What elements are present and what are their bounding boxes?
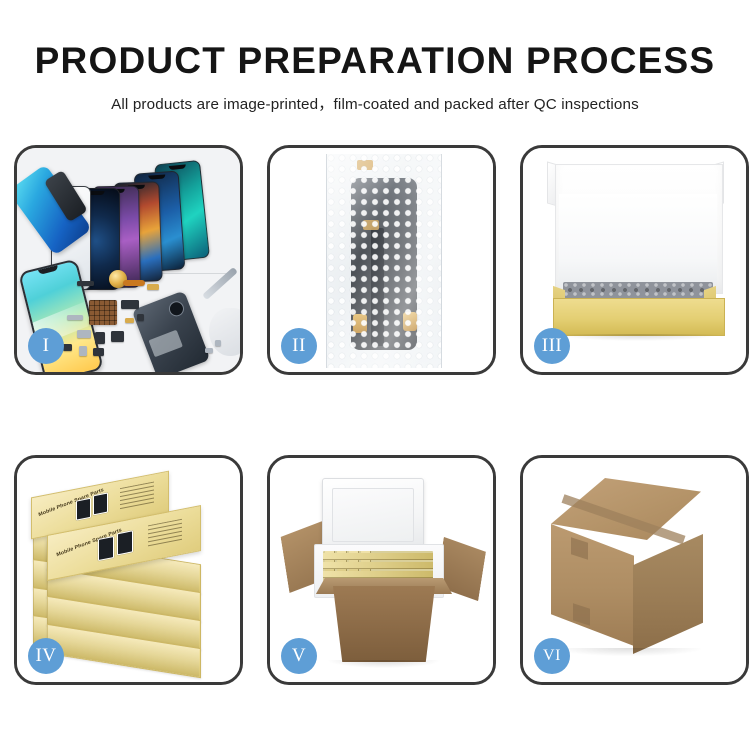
foam-lid-icon — [322, 478, 424, 552]
copper-board-icon — [89, 300, 117, 325]
step-badge-1: I — [28, 328, 64, 364]
process-step-panel-4: Mobile Phone Spare Parts Mobile Phone Sp… — [14, 455, 243, 685]
step-badge-2: II — [281, 328, 317, 364]
process-step-panel-6: VI — [520, 455, 749, 685]
header: PRODUCT PREPARATION PROCESS All products… — [0, 0, 750, 114]
step-badge-5: V — [281, 638, 317, 674]
process-step-panel-3: III — [520, 145, 749, 375]
yellow-box-base-icon — [553, 298, 725, 336]
process-step-panel-1: I — [14, 145, 243, 375]
white-foam-icon — [559, 194, 717, 286]
product-preparation-infographic: PRODUCT PREPARATION PROCESS All products… — [0, 0, 750, 750]
page-subtitle: All products are image-printed，film-coat… — [0, 81, 750, 114]
step-badge-4: IV — [28, 638, 64, 674]
page-title: PRODUCT PREPARATION PROCESS — [0, 0, 750, 81]
step-badge-6: VI — [534, 638, 570, 674]
carton-body-icon — [326, 586, 442, 662]
bubble-wrap-bag-icon — [326, 154, 442, 368]
process-step-grid: I II — [14, 145, 749, 685]
process-step-panel-2: II — [267, 145, 496, 375]
step-badge-3: III — [534, 328, 570, 364]
process-step-panel-5: V — [267, 455, 496, 685]
